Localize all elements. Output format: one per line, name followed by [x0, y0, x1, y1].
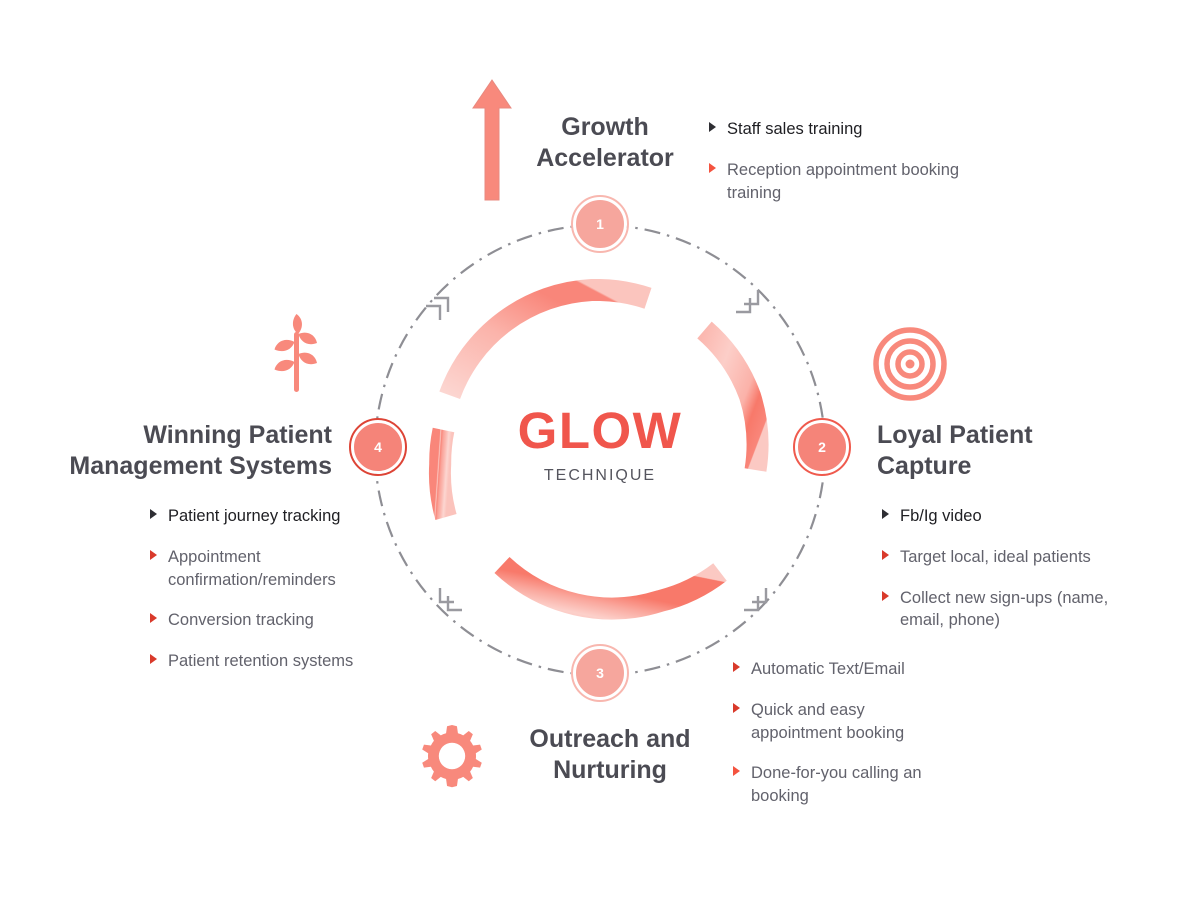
loyal-title-line1: Loyal Patient	[877, 420, 1107, 451]
corner-bracket-top-left	[426, 306, 440, 320]
section-title-winning-patient-management-systems: Winning Patient Management Systems	[22, 420, 332, 482]
ring-segment-top	[450, 290, 648, 395]
step-badge-1-label: 1	[596, 216, 604, 232]
step-badge-2[interactable]: 2	[795, 420, 849, 474]
ring-segments	[440, 290, 758, 608]
triangle-bullet-icon	[882, 591, 889, 601]
list-item: Automatic Text/Email	[733, 658, 948, 681]
triangle-bullet-icon	[882, 509, 889, 519]
section-title-outreach-and-nurturing: Outreach and Nurturing	[505, 724, 715, 786]
list-item: Done-for-you calling an booking	[733, 762, 948, 808]
gear-icon	[419, 723, 485, 789]
step-badge-3-label: 3	[596, 665, 604, 681]
triangle-bullet-icon	[150, 509, 157, 519]
bullet-list-growth-accelerator: Staff sales training Reception appointme…	[709, 118, 969, 204]
cycle-ring-graphic	[330, 180, 870, 720]
bullet-list-outreach-and-nurturing: Automatic Text/Email Quick and easy appo…	[733, 658, 948, 808]
growth-title-line2: Accelerator	[505, 143, 705, 174]
winning-title-line2: Management Systems	[22, 451, 332, 482]
triangle-bullet-icon	[882, 550, 889, 560]
list-item: Target local, ideal patients	[882, 546, 1112, 569]
bullet-text: Conversion tracking	[168, 611, 314, 629]
bullet-list-winning-patient-management-systems: Patient journey tracking Appointment con…	[150, 505, 365, 673]
bullet-list-loyal-patient-capture: Fb/Ig video Target local, ideal patients…	[882, 505, 1112, 632]
triangle-bullet-icon	[709, 122, 716, 132]
target-icon	[873, 327, 947, 401]
triangle-bullet-icon	[733, 766, 740, 776]
triangle-bullet-icon	[150, 654, 157, 664]
bullet-text: Patient journey tracking	[168, 507, 340, 525]
list-item: Reception appointment booking training	[709, 159, 969, 205]
plant-icon	[265, 310, 327, 392]
bullet-text: Fb/Ig video	[900, 507, 982, 525]
step-badge-4-label: 4	[374, 439, 382, 455]
bullet-text: Staff sales training	[727, 120, 862, 138]
bullet-text: Quick and easy appointment booking	[751, 701, 904, 742]
list-item: Collect new sign-ups (name, email, phone…	[882, 587, 1112, 633]
bullet-text: Done-for-you calling an booking	[751, 764, 922, 805]
ring-segment-left	[440, 430, 446, 517]
bullet-text: Appointment confirmation/reminders	[168, 548, 336, 589]
bullet-text: Patient retention systems	[168, 652, 353, 670]
ring-segment-right	[705, 330, 758, 470]
step-badge-3[interactable]: 3	[573, 646, 627, 700]
bullet-text: Collect new sign-ups (name, email, phone…	[900, 589, 1108, 630]
glow-technique-diagram: GLOW TECHNIQUE 1 2 3 4 Growth Accelerato…	[0, 0, 1200, 899]
loyal-title-line2: Capture	[877, 451, 1107, 482]
bullet-text: Reception appointment booking training	[727, 161, 959, 202]
triangle-bullet-icon	[709, 163, 716, 173]
list-item: Staff sales training	[709, 118, 969, 141]
list-item: Fb/Ig video	[882, 505, 1112, 528]
list-item: Quick and easy appointment booking	[733, 699, 948, 745]
section-title-growth-accelerator: Growth Accelerator	[505, 112, 705, 174]
winning-title-line1: Winning Patient	[22, 420, 332, 451]
section-title-loyal-patient-capture: Loyal Patient Capture	[877, 420, 1107, 482]
triangle-bullet-icon	[150, 550, 157, 560]
list-item: Patient retention systems	[150, 650, 365, 673]
step-badge-4[interactable]: 4	[351, 420, 405, 474]
triangle-bullet-icon	[150, 613, 157, 623]
triangle-bullet-icon	[733, 662, 740, 672]
bullet-text: Automatic Text/Email	[751, 660, 905, 678]
outreach-title-line1: Outreach and	[505, 724, 715, 755]
list-item: Patient journey tracking	[150, 505, 365, 528]
list-item: Appointment confirmation/reminders	[150, 546, 365, 592]
outreach-title-line2: Nurturing	[505, 755, 715, 786]
triangle-bullet-icon	[733, 703, 740, 713]
step-badge-2-label: 2	[818, 439, 826, 455]
ring-segment-bottom	[502, 565, 720, 608]
bullet-text: Target local, ideal patients	[900, 548, 1091, 566]
step-badge-1[interactable]: 1	[573, 197, 627, 251]
list-item: Conversion tracking	[150, 609, 365, 632]
growth-title-line1: Growth	[505, 112, 705, 143]
